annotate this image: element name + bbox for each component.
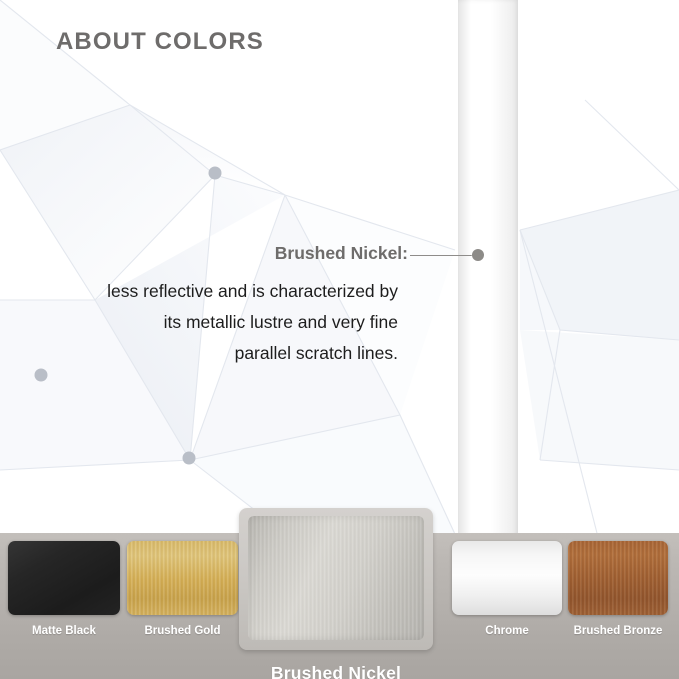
- swatch-label-brushed-gold: Brushed Gold: [127, 625, 238, 637]
- swatch-label-brushed-bronze: Brushed Bronze: [568, 625, 668, 637]
- callout-line-3: parallel scratch lines.: [36, 338, 398, 369]
- swatch-chip-matte-black[interactable]: [8, 541, 120, 615]
- callout-leader-line: [410, 255, 472, 256]
- callout-line-2: its metallic lustre and very fine: [36, 307, 398, 338]
- callout-label: Brushed Nickel:: [180, 243, 408, 264]
- decor-dot: [35, 369, 48, 382]
- swatch-label-matte-black: Matte Black: [8, 625, 120, 637]
- about-colors-panel: ABOUT COLORS Brushed Nickel: less reflec…: [0, 0, 679, 679]
- strip-sheen-overlay: [458, 0, 518, 536]
- callout-description: less reflective and is characterized by …: [36, 276, 398, 369]
- page-title: ABOUT COLORS: [56, 28, 264, 56]
- brushed-nickel-sample-strip: [458, 0, 518, 536]
- swatch-chip-brushed-bronze[interactable]: [568, 541, 668, 615]
- color-swatch-bar: Matte Black Brushed Gold Brushed Nickel …: [0, 533, 679, 679]
- swatch-chip-brushed-gold[interactable]: [127, 541, 238, 615]
- swatch-chip-brushed-nickel[interactable]: [248, 516, 424, 640]
- callout-leader-dot: [472, 249, 484, 261]
- decor-dot: [183, 452, 196, 465]
- background-polygon-pattern: [0, 0, 679, 545]
- callout-line-1: less reflective and is characterized by: [36, 276, 398, 307]
- swatch-label-brushed-nickel: Brushed Nickel: [239, 663, 433, 679]
- swatch-chip-chrome[interactable]: [452, 541, 562, 615]
- decor-dot: [209, 167, 222, 180]
- swatch-label-chrome: Chrome: [452, 625, 562, 637]
